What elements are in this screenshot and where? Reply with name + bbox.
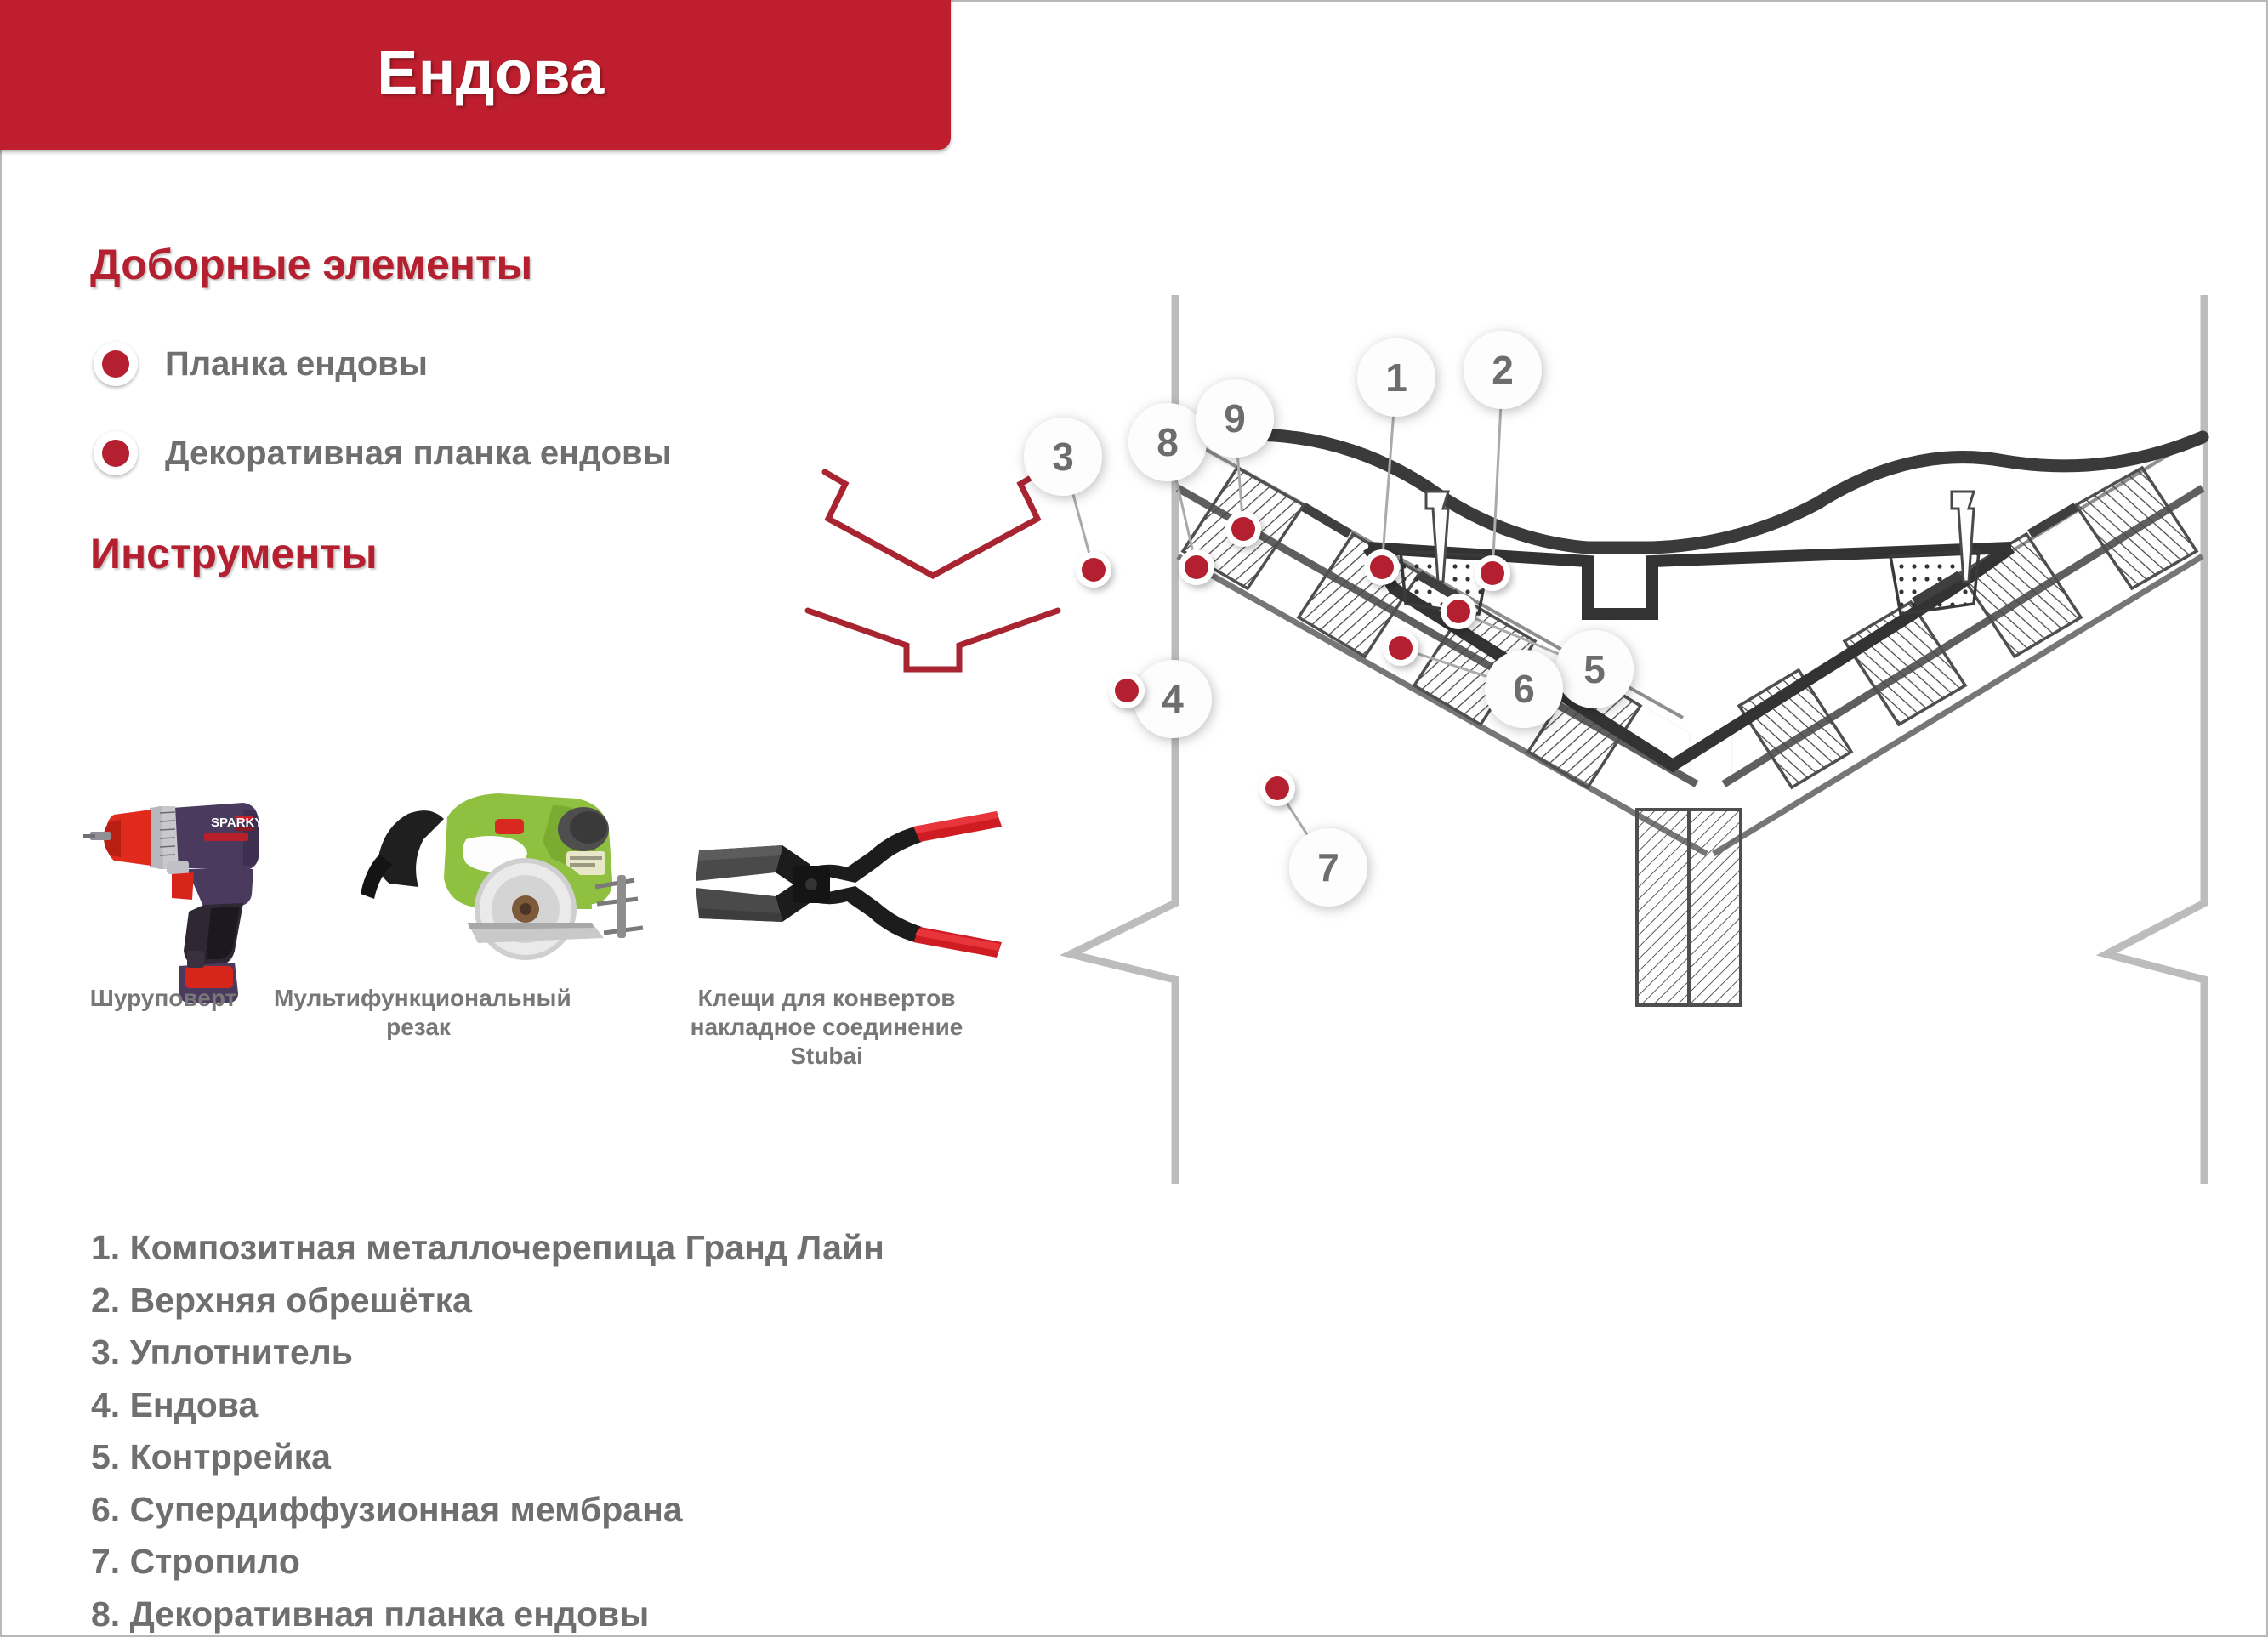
legend-item: 6. Супердиффузионная мембрана <box>91 1484 884 1537</box>
tool-caption: Мультифункциональный резак <box>274 984 563 1042</box>
shallow-v-trapezoid-profile-icon <box>808 611 1058 669</box>
accessory-profile-diagrams <box>793 444 1073 699</box>
accessory-item-decorative-valley-strip: Декоративная планка ендовы <box>94 431 672 475</box>
page-title: Ендова <box>343 38 605 108</box>
callout-7[interactable]: 7 <box>1259 770 1367 907</box>
accessory-item-valley-strip: Планка ендовы <box>94 342 428 386</box>
roof-valley-cross-section-diagram: 1 2 3 <box>1035 282 2251 1184</box>
tool-caption: Шуруповерт <box>53 984 274 1013</box>
accessory-label: Декоративная планка ендовы <box>165 435 672 473</box>
slide-page: Ендова Доборные элементы Планка ендовы Д… <box>0 0 2268 1637</box>
title-banner: Ендова <box>0 0 951 150</box>
valley-rafter-post <box>1637 810 1741 1005</box>
callout-number: 5 <box>1583 647 1606 691</box>
circular-saw-icon <box>349 780 655 971</box>
callout-number: 2 <box>1492 348 1514 392</box>
callout-number: 8 <box>1157 420 1179 464</box>
callout-number: 9 <box>1224 396 1246 441</box>
legend-item: 3. Уплотнитель <box>91 1327 884 1379</box>
legend-list: 1. Композитная металлочерепица Гранд Лай… <box>91 1222 884 1637</box>
svg-text:SPARKY: SPARKY <box>211 816 263 830</box>
legend-item: 5. Контррейка <box>91 1431 884 1484</box>
callout-number: 6 <box>1513 667 1535 711</box>
cordless-drill-icon: SPARKY <box>77 784 366 971</box>
legend-item: 7. Стропило <box>91 1536 884 1589</box>
callout-3[interactable]: 3 <box>1024 418 1111 588</box>
callout-number: 1 <box>1385 355 1407 400</box>
callout-number: 4 <box>1162 677 1184 721</box>
accessory-label: Планка ендовы <box>165 345 428 384</box>
break-line-right <box>2106 295 2204 1184</box>
legend-item: 1. Композитная металлочерепица Гранд Лай… <box>91 1222 884 1275</box>
callout-4[interactable]: 4 <box>1109 660 1212 738</box>
deep-v-valley-profile-icon <box>825 472 1041 576</box>
legend-item: 4. Ендова <box>91 1379 884 1432</box>
tools-heading: Инструменты <box>90 529 378 578</box>
bullet-dot-icon <box>94 431 138 475</box>
bullet-dot-icon <box>94 342 138 386</box>
callout-number: 3 <box>1052 435 1074 479</box>
legend-item: 8. Декоративная планка ендовы <box>91 1589 884 1637</box>
accessories-heading: Доборные элементы <box>90 240 532 289</box>
tool-caption: Клещи для конвертов накладное соединение… <box>657 984 997 1071</box>
left-panel: Доборные элементы Планка ендовы Декорати… <box>2 155 1065 1637</box>
seaming-pliers-icon <box>674 801 1014 971</box>
legend-item: 2. Верхняя обрешётка <box>91 1275 884 1327</box>
callout-number: 7 <box>1317 845 1339 890</box>
